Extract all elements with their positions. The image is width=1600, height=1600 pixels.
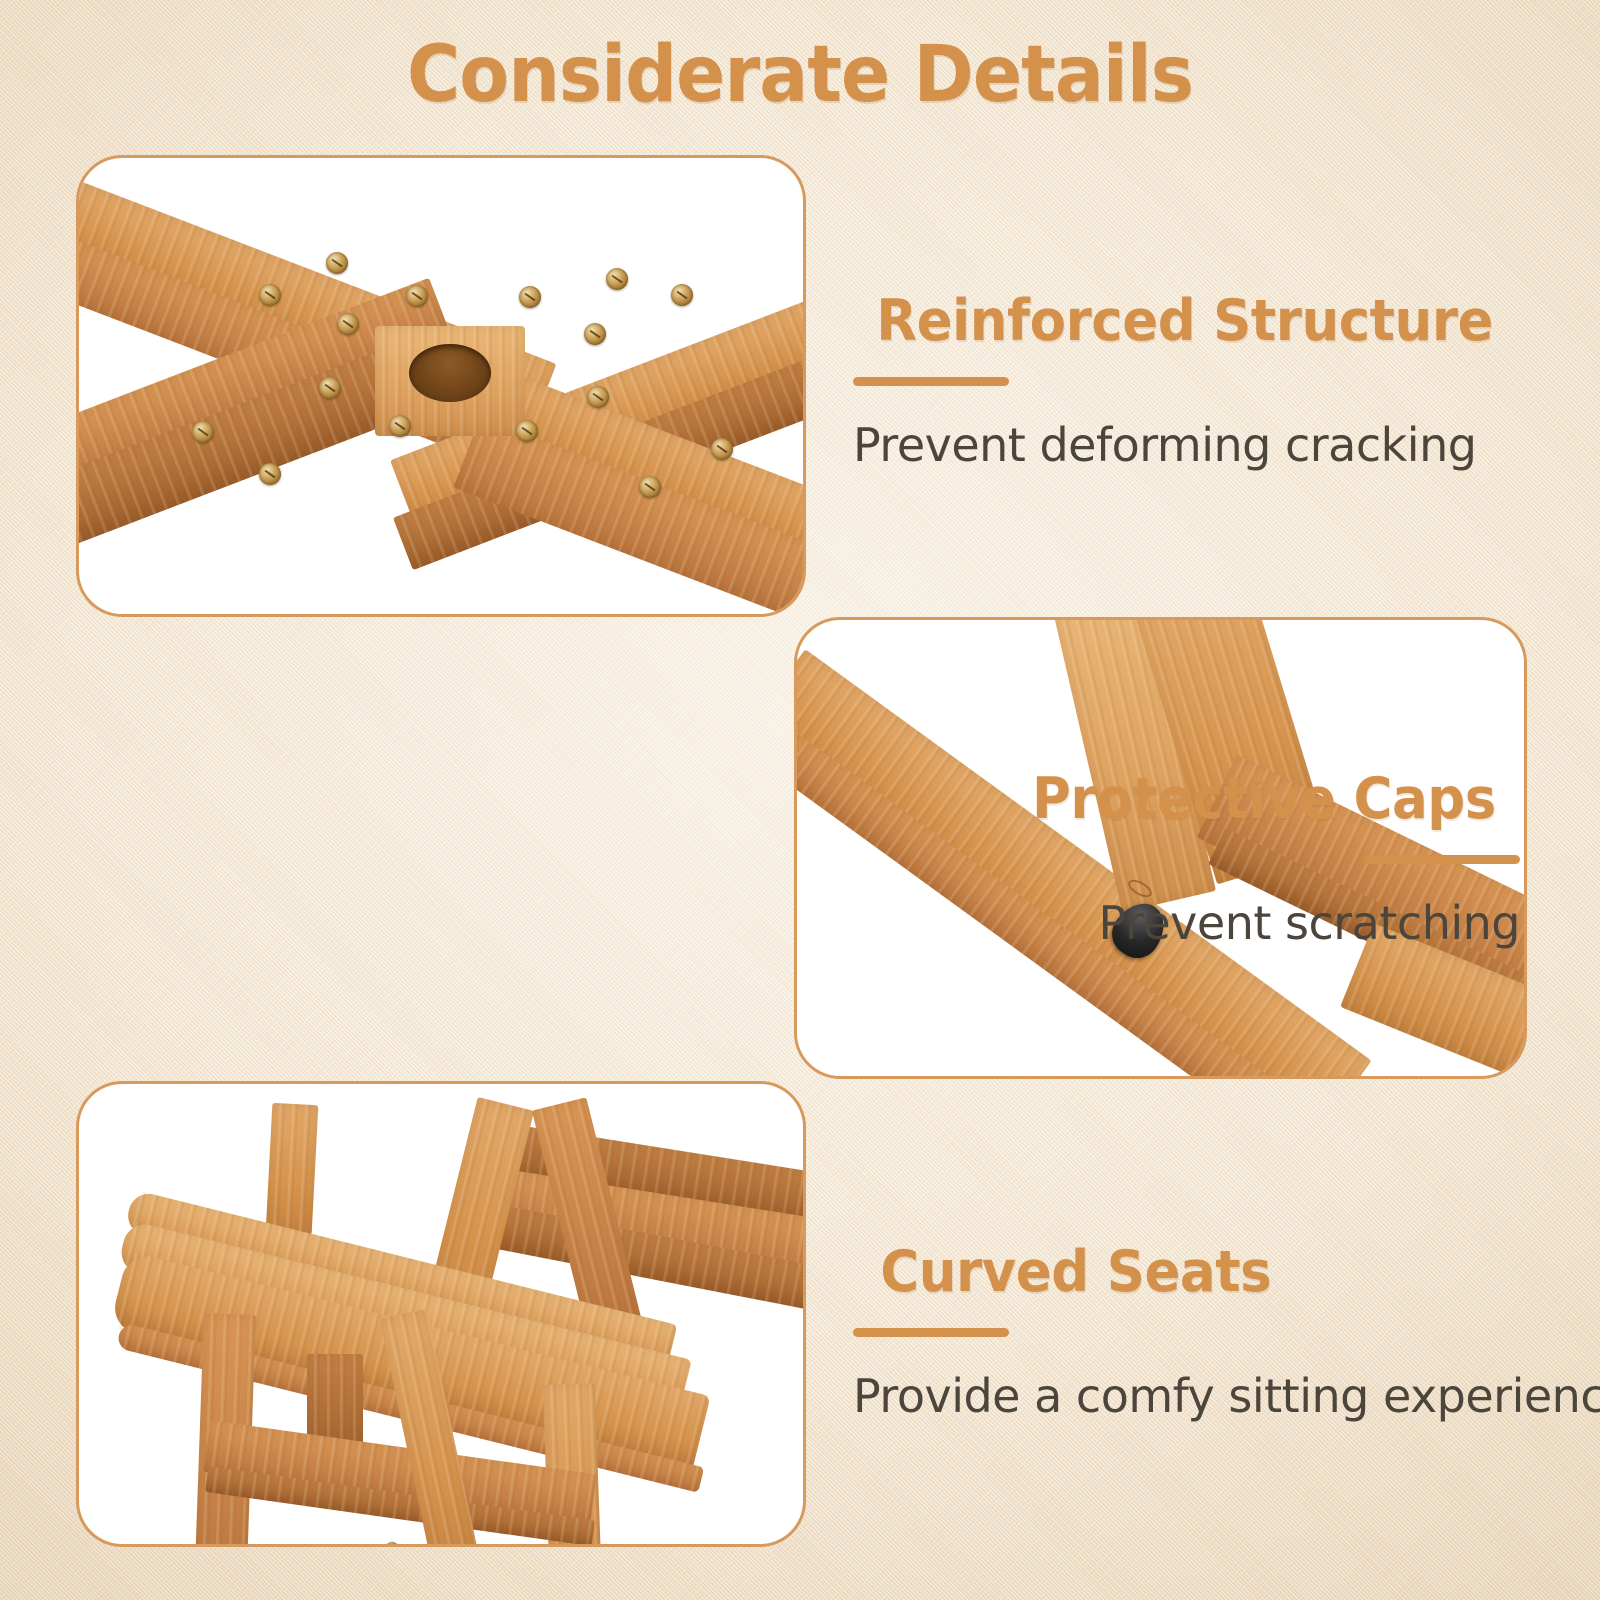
feature-description: Prevent scratching xyxy=(830,898,1520,950)
feature-photo-curved-seats xyxy=(76,1081,806,1547)
feature-text-protective-caps: Protective Caps Prevent scratching xyxy=(830,770,1520,949)
feature-description: Provide a comfy sitting experience xyxy=(853,1371,1600,1423)
cross-brace-table-base-photo xyxy=(79,158,803,614)
feature-text-curved-seats: Curved Seats Provide a comfy sitting exp… xyxy=(853,1243,1600,1422)
feature-divider xyxy=(853,377,1009,386)
feature-text-reinforced-structure: Reinforced Structure Prevent deforming c… xyxy=(853,292,1516,471)
page-title: Considerate Details xyxy=(56,36,1544,114)
feature-heading: Reinforced Structure xyxy=(876,292,1493,352)
feature-description: Prevent deforming cracking xyxy=(853,420,1516,472)
feature-heading: Curved Seats xyxy=(880,1243,1600,1303)
feature-divider xyxy=(853,1328,1009,1337)
feature-photo-reinforced-structure xyxy=(76,155,806,617)
feature-divider xyxy=(1364,855,1520,864)
umbrella-hole xyxy=(409,344,491,402)
feature-heading: Protective Caps xyxy=(854,770,1496,830)
infographic-page: Considerate Details xyxy=(0,0,1600,1600)
curved-bench-seat-photo xyxy=(79,1084,803,1544)
